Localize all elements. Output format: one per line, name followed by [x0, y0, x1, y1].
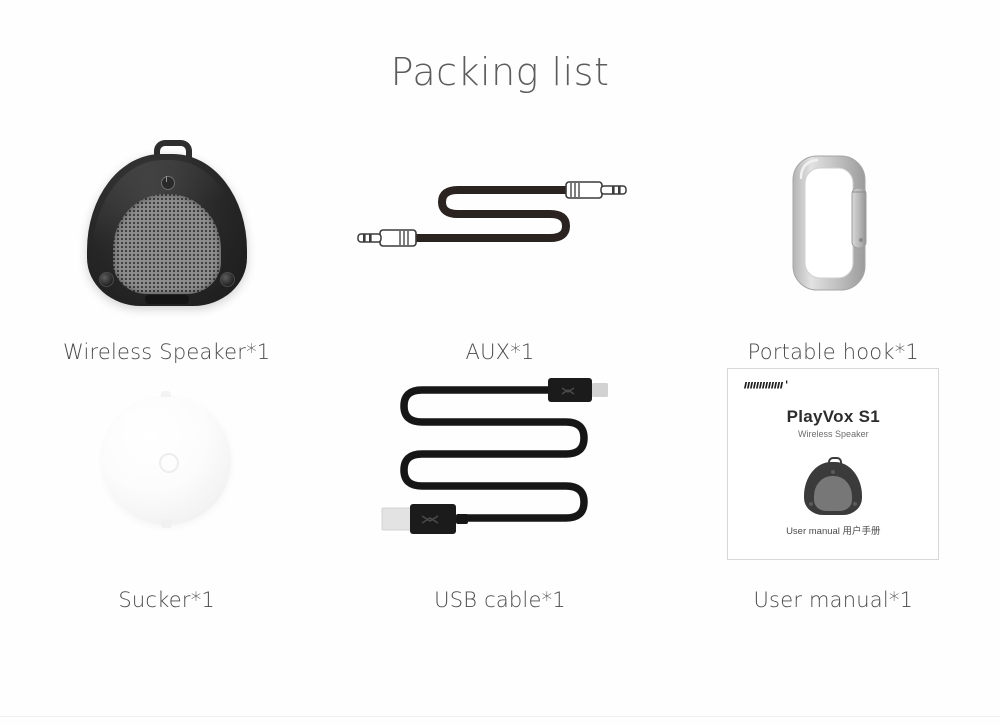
sucker-center-ring-icon	[159, 453, 179, 473]
aux-cable-svg	[350, 168, 650, 278]
caption-aux-cable: AUX*1	[466, 340, 535, 364]
caption-usb-cable: USB cable*1	[434, 588, 566, 612]
manual-speaker-illustration	[804, 457, 862, 515]
sucker-tab-bottom	[161, 519, 172, 528]
manual-product-title: PlayVox S1	[728, 407, 938, 427]
speaker-foot	[145, 295, 189, 304]
manual-speaker-screw-left-icon	[809, 502, 813, 506]
nillkin-logo-icon	[742, 379, 794, 392]
packing-item-sucker: Sucker*1	[0, 364, 333, 612]
speaker-body	[87, 154, 247, 306]
packing-list-grid: Wireless Speaker*1	[0, 128, 1000, 612]
manual-speaker-power-dot-icon	[831, 470, 835, 474]
usb-cable-illustration	[370, 364, 630, 564]
usb-cable-art	[333, 364, 666, 564]
bottom-divider	[0, 716, 1000, 717]
carabiner-opening	[805, 168, 853, 278]
caption-sucker: Sucker*1	[118, 588, 215, 612]
speaker-grille-mesh	[113, 194, 221, 294]
caption-portable-hook: Portable hook*1	[748, 340, 919, 364]
packing-list-page: Packing list	[0, 0, 1000, 726]
packing-item-portable-hook: Portable hook*1	[667, 128, 1000, 364]
user-manual-illustration: PlayVox S1 Wireless Speaker User ma	[727, 368, 939, 560]
manual-speaker-screw-right-icon	[853, 502, 857, 506]
packing-item-wireless-speaker: Wireless Speaker*1	[0, 128, 333, 364]
manual-speaker-grille	[814, 476, 852, 511]
aux-jack-left-icon	[358, 230, 416, 246]
aux-cable-illustration	[350, 168, 650, 278]
packing-list-row-1: Wireless Speaker*1	[0, 128, 1000, 364]
sucker-art	[0, 364, 333, 564]
suction-cup-illustration	[97, 389, 237, 539]
packing-item-usb-cable: USB cable*1	[333, 364, 666, 612]
carabiner-gate	[852, 188, 866, 248]
manual-product-subtitle: Wireless Speaker	[728, 429, 938, 439]
speaker-screw-right-icon	[220, 272, 235, 287]
micro-usb-connector-icon	[548, 378, 608, 402]
caption-wireless-speaker: Wireless Speaker*1	[63, 340, 270, 364]
aux-cable-art	[333, 128, 666, 318]
speaker-screw-left-icon	[99, 272, 114, 287]
manual-footer-text: User manual 用户手册	[728, 523, 938, 537]
wireless-speaker-art	[0, 128, 333, 318]
portable-hook-art	[667, 128, 1000, 318]
wireless-speaker-illustration	[87, 140, 247, 306]
usb-a-connector-icon	[382, 504, 468, 534]
carabiner-hook-illustration	[783, 148, 883, 298]
packing-list-row-2: Sucker*1	[0, 364, 1000, 612]
user-manual-art: PlayVox S1 Wireless Speaker User ma	[667, 364, 1000, 564]
manual-speaker-body	[804, 462, 862, 515]
caption-user-manual: User manual*1	[753, 588, 913, 612]
packing-item-aux-cable: AUX*1	[333, 128, 666, 364]
page-title: Packing list	[0, 50, 1000, 94]
aux-jack-right-icon	[566, 182, 626, 198]
carabiner-svg	[783, 148, 883, 298]
power-button-icon	[161, 176, 175, 190]
packing-item-user-manual: PlayVox S1 Wireless Speaker User ma	[667, 364, 1000, 612]
usb-cable-svg	[370, 364, 630, 564]
